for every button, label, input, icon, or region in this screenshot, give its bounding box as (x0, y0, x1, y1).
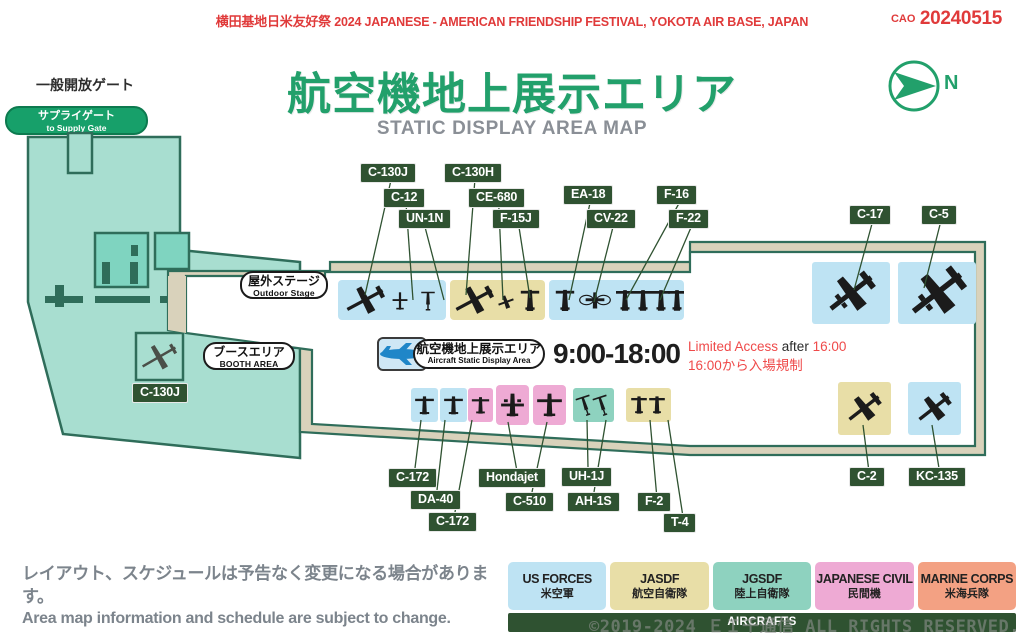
legend-item-jasdf: JASDF航空自衛隊 (610, 562, 708, 610)
static-display-area-map-page: 横田基地日米友好祭 2024 JAPANESE - AMERICAN FRIEN… (0, 0, 1024, 633)
pill-booth-area[interactable]: ブースエリア BOOTH AREA (203, 342, 295, 370)
display-tile-jasdf-jets[interactable] (626, 388, 671, 422)
aircraft-icon-da40 (444, 396, 463, 414)
display-tile-c172-1[interactable] (411, 388, 438, 422)
legend-item-label-jp: 民間機 (815, 587, 913, 602)
aircraft-icon-f16-1 (616, 290, 634, 311)
aircraft-icon-cv22 (580, 292, 611, 308)
aircraft-icon-ea18 (556, 290, 574, 311)
gate-stem (68, 133, 92, 173)
walk-seg-4 (55, 285, 64, 307)
chip-f-16[interactable]: F-16 (656, 185, 697, 205)
chip-cv-22[interactable]: CV-22 (586, 209, 636, 229)
chip-da-40[interactable]: DA-40 (410, 490, 461, 510)
display-tile-c17[interactable] (812, 262, 890, 324)
limited-access-note: Limited Access after 16:00 16:00から入場規制 (688, 337, 846, 375)
legend-item-label-en: JGSDF (713, 571, 811, 587)
limited-access-after: after (778, 339, 813, 354)
area-banner[interactable]: 航空機地上展示エリア Aircraft Static Display Area (413, 339, 545, 369)
legend-item-label-en: JASDF (610, 571, 708, 587)
aircraft-icon-c172-2 (472, 397, 489, 414)
chip-f-22[interactable]: F-22 (668, 209, 709, 229)
area-banner-jp: 航空機地上展示エリア (415, 343, 543, 356)
aircraft-icon-t4 (649, 396, 665, 413)
aircraft-icon-f15j (521, 290, 539, 311)
building-detail-2 (130, 262, 138, 284)
aircraft-icon-f16-2 (634, 290, 652, 311)
legend-item-label-jp: 陸上自衛隊 (713, 587, 811, 602)
display-tile-hondajet[interactable] (496, 385, 529, 425)
legend-item-jgsdf: JGSDF陸上自衛隊 (713, 562, 811, 610)
chip-c-130j[interactable]: C-130J (360, 163, 416, 183)
pill-booth-area-jp: ブースエリア (205, 346, 293, 359)
chip-c-130h[interactable]: C-130H (444, 163, 502, 183)
aircraft-icon-f22-2 (668, 290, 684, 311)
chip-c-172[interactable]: C-172 (428, 512, 477, 532)
aircraft-icon-c5 (901, 262, 974, 324)
chip-f-2[interactable]: F-2 (637, 492, 671, 512)
walk-seg-2 (95, 296, 150, 303)
chip-ce-680[interactable]: CE-680 (468, 188, 525, 208)
chip-uh-1j[interactable]: UH-1J (561, 467, 612, 487)
aircraft-icon-ah1s (592, 395, 612, 418)
display-tile-da40[interactable] (440, 388, 467, 422)
chip-c-172[interactable]: C-172 (388, 468, 437, 488)
plaza-apron-connector (168, 276, 186, 333)
aircraft-icon-c12 (393, 292, 408, 309)
chip-hondajet[interactable]: Hondajet (478, 468, 546, 488)
display-group-jasdf-1[interactable] (450, 280, 545, 320)
chip-ah-1s[interactable]: AH-1S (567, 492, 620, 512)
legend-item-label-jp: 米海兵隊 (918, 587, 1016, 602)
chip-c-5[interactable]: C-5 (921, 205, 957, 225)
legend-item-us-forces: US FORCES米空軍 (508, 562, 606, 610)
display-tile-c5[interactable] (898, 262, 976, 324)
display-tile-jgsdf-helos[interactable] (573, 388, 614, 422)
legend-item-japanese-civil: JAPANESE CIVIL民間機 (815, 562, 913, 610)
legend-item-label-jp: 航空自衛隊 (610, 587, 708, 602)
legend-item-label-en: MARINE CORPS (918, 571, 1016, 587)
pill-outdoor-stage-jp: 屋外ステージ (242, 275, 326, 288)
aircraft-icon-c510 (537, 394, 562, 417)
building-detail-3 (131, 245, 138, 256)
aircraft-icon-c172-1 (415, 396, 434, 414)
aircraft-icon-kc135 (912, 387, 957, 430)
display-tile-c172-2[interactable] (468, 388, 493, 422)
chip-c130j-left[interactable]: C-130J (132, 383, 188, 403)
building-2 (155, 233, 189, 269)
aircraft-icon-c130h (450, 280, 498, 320)
legend-item-label-en: US FORCES (508, 571, 606, 587)
legend-item-label-jp: 米空軍 (508, 587, 606, 602)
aircraft-icon-ce680 (496, 293, 515, 311)
chip-c-12[interactable]: C-12 (383, 188, 425, 208)
display-tile-c2[interactable] (838, 382, 891, 435)
legend: US FORCES米空軍JASDF航空自衛隊JGSDF陸上自衛隊JAPANESE… (508, 562, 1016, 610)
display-group-us-forces-2[interactable] (549, 280, 684, 320)
disclaimer-jp: レイアウト、スケジュールは予告なく変更になる場合があります。 (22, 562, 502, 608)
chip-un-1n[interactable]: UN-1N (398, 209, 451, 229)
aircraft-icon-c130j (341, 280, 389, 320)
aircraft-icon-c2 (842, 387, 887, 430)
aircraft-icon-un1n (421, 292, 435, 311)
limited-access-jp: 16:00から入場規制 (688, 356, 846, 375)
limited-access-main: Limited Access (688, 339, 778, 354)
aircraft-icon-f22-1 (652, 290, 670, 311)
chip-c-2[interactable]: C-2 (849, 467, 885, 487)
chip-ea-18[interactable]: EA-18 (563, 185, 613, 205)
aircraft-icon-hondajet (501, 394, 524, 417)
pill-booth-area-en: BOOTH AREA (205, 359, 293, 369)
chip-c-510[interactable]: C-510 (505, 492, 554, 512)
legend-item-marine-corps: MARINE CORPS米海兵隊 (918, 562, 1016, 610)
building-detail-1 (102, 262, 110, 284)
aircraft-icon-c17 (820, 263, 882, 323)
chip-t-4[interactable]: T-4 (663, 513, 696, 533)
pill-outdoor-stage-en: Outdoor Stage (242, 288, 326, 298)
aircraft-icon-uh1j (575, 395, 595, 418)
display-tile-c510[interactable] (533, 385, 566, 425)
legend-item-label-en: JAPANESE CIVIL (815, 571, 913, 587)
area-banner-en: Aircraft Static Display Area (415, 356, 543, 366)
chip-kc-135[interactable]: KC-135 (908, 467, 966, 487)
chip-c-17[interactable]: C-17 (849, 205, 891, 225)
limited-access-time: 16:00 (813, 339, 847, 354)
copyright-watermark: ©2019-2024 ＥＩ千通信 ALL RIGHTS RESERVED. (0, 612, 1024, 633)
aircraft-icon-f2 (631, 396, 647, 413)
display-group-us-forces-1[interactable] (338, 280, 446, 320)
opening-hours: 9:00-18:00 (553, 338, 680, 370)
display-tile-kc135[interactable] (908, 382, 961, 435)
chip-f-15j[interactable]: F-15J (492, 209, 540, 229)
pill-outdoor-stage[interactable]: 屋外ステージ Outdoor Stage (240, 271, 328, 299)
